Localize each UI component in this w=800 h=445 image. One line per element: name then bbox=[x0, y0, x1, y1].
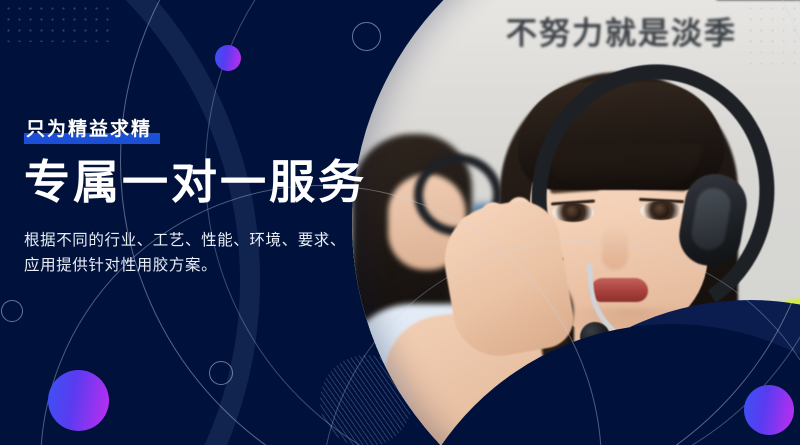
text-block: 只为精益求精 专属一对一服务 根据不同的行业、工艺、性能、环境、要求、 应用提供… bbox=[24, 120, 384, 279]
promo-banner: 不努力就是淡季 bbox=[0, 0, 800, 445]
gradient-dot-right bbox=[744, 385, 794, 435]
ring-outline-icon bbox=[352, 22, 381, 51]
striped-circle-decor bbox=[320, 355, 412, 445]
dot-grid-top-left-icon bbox=[0, 0, 112, 42]
gradient-dot-top bbox=[215, 45, 241, 71]
ring-outline-icon bbox=[1, 300, 23, 322]
eyebrow-heading: 只为精益求精 bbox=[24, 120, 154, 144]
page-title: 专属一对一服务 bbox=[24, 158, 384, 206]
body-copy-line-1: 根据不同的行业、工艺、性能、环境、要求、 bbox=[24, 228, 362, 253]
body-copy-line-2: 应用提供针对性用胶方案。 bbox=[24, 253, 362, 278]
eyebrow-text: 只为精益求精 bbox=[26, 118, 152, 140]
body-copy: 根据不同的行业、工艺、性能、环境、要求、 应用提供针对性用胶方案。 bbox=[24, 228, 362, 278]
gradient-dot-left bbox=[48, 370, 109, 431]
ring-outline-icon bbox=[209, 361, 233, 385]
